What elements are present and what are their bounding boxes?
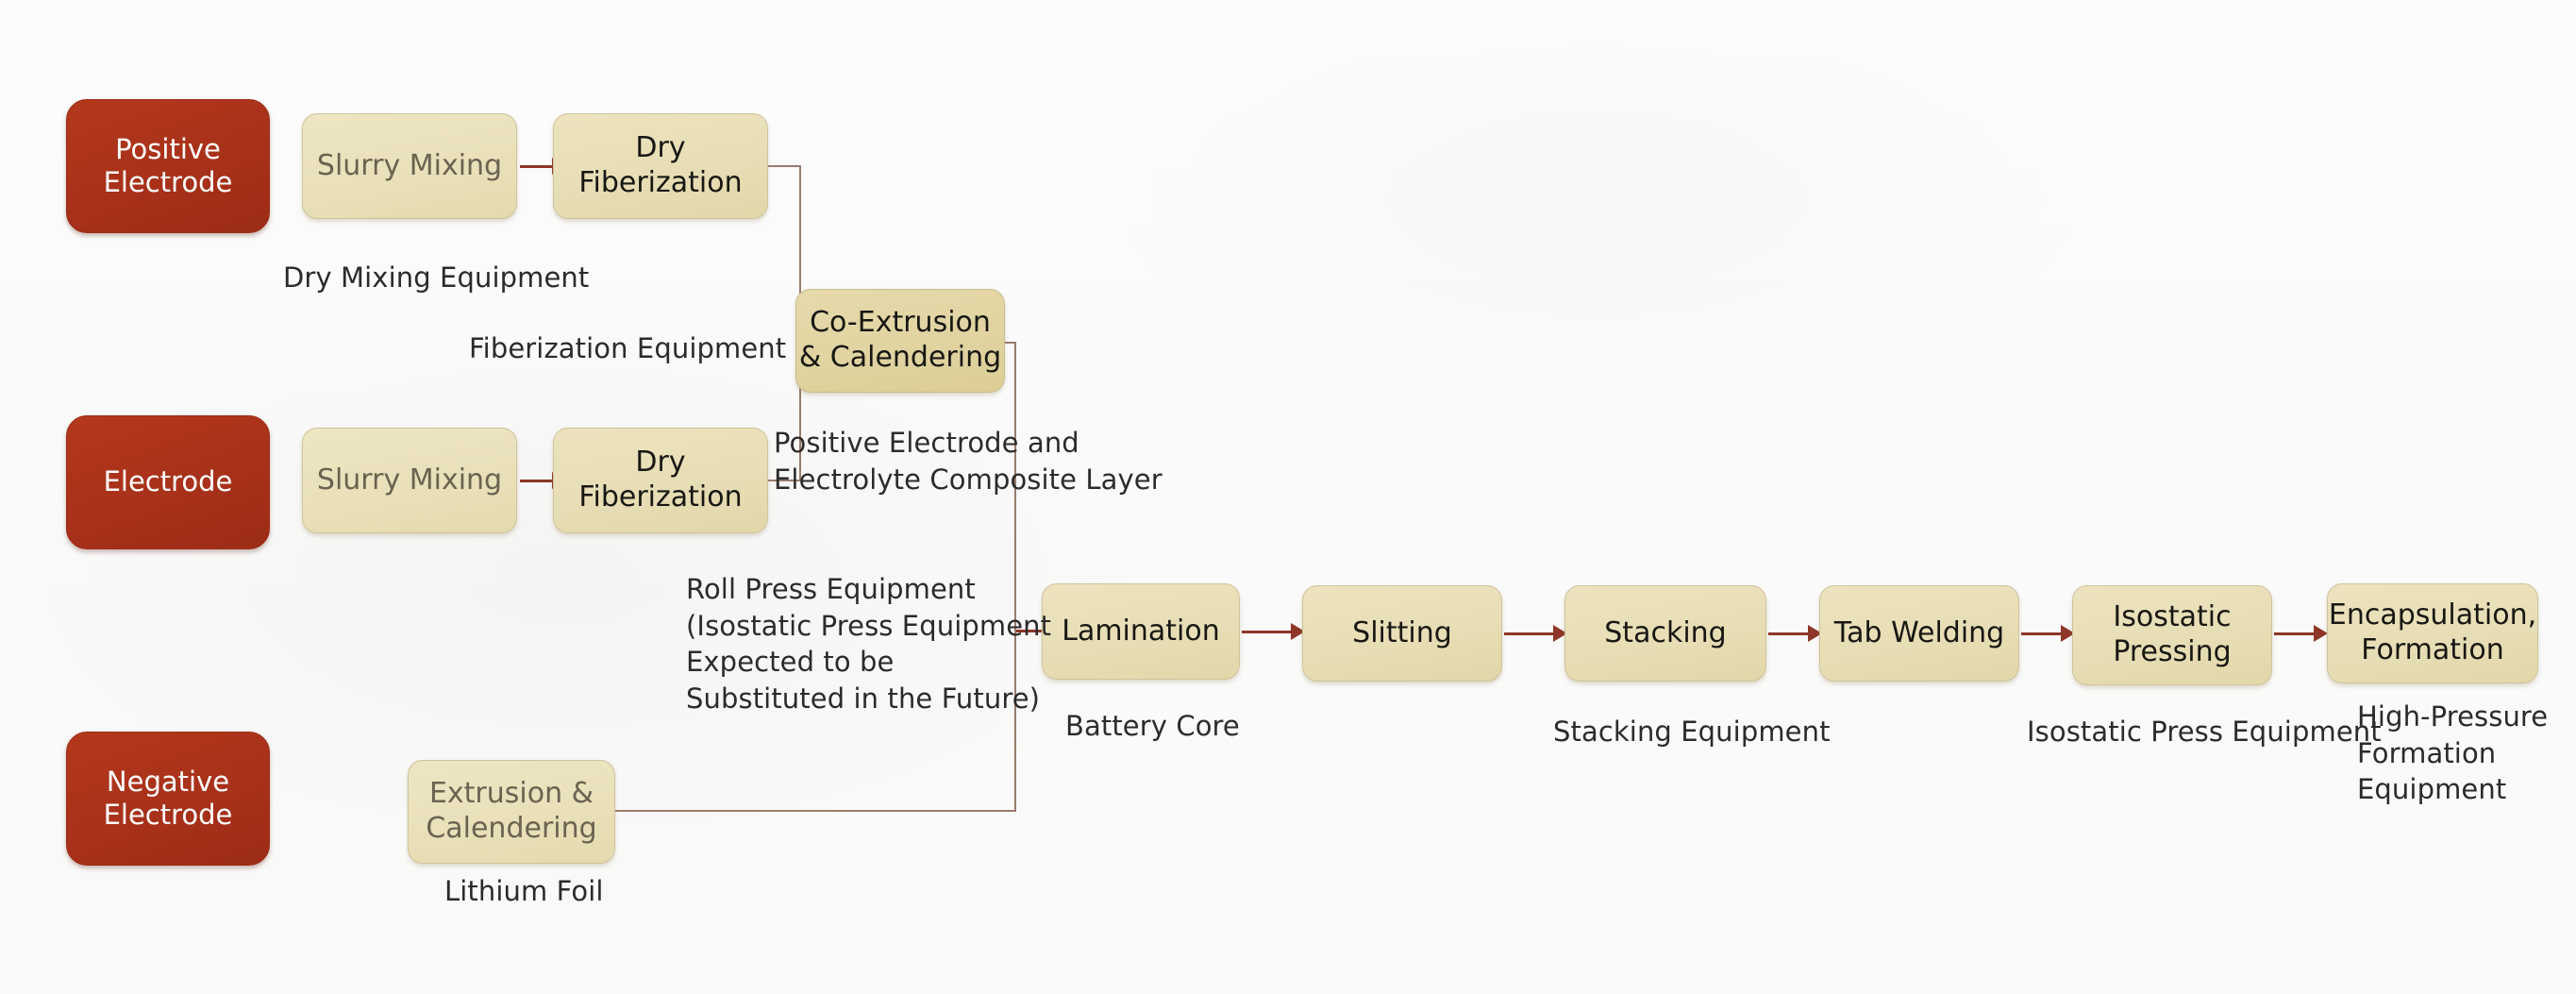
caption-dry-mixing-equipment: Dry Mixing Equipment (283, 260, 589, 296)
arrow-isostatic-to-encapsulation (2274, 632, 2316, 635)
flowchart-canvas: Positive Electrode Electrode Negative El… (0, 0, 2576, 994)
caption-positive-electrode-composite: Positive Electrode and Electrolyte Compo… (774, 425, 1163, 497)
node-negative-electrode[interactable]: Negative Electrode (66, 732, 270, 866)
node-electrode[interactable]: Electrode (66, 415, 270, 549)
arrow-slurry-to-fiberization-top (520, 165, 554, 168)
node-dry-fiberization-top-label: Dry Fiberization (554, 131, 767, 200)
connector-extrusion-out (615, 810, 1016, 812)
arrow-stacking-to-tab-welding (1768, 632, 1810, 635)
node-slitting[interactable]: Slitting (1302, 585, 1502, 682)
caption-roll-press-equipment: Roll Press Equipment (Isostatic Press Eq… (686, 571, 1051, 716)
caption-fiberization-equipment: Fiberization Equipment (469, 330, 786, 367)
node-lamination[interactable]: Lamination (1042, 583, 1240, 680)
arrow-slitting-to-stacking (1504, 632, 1555, 635)
node-encapsulation-formation-label: Encapsulation, Formation (2329, 598, 2536, 667)
node-slitting-label: Slitting (1352, 616, 1452, 651)
node-positive-electrode-label: Positive Electrode (104, 133, 233, 200)
arrow-lamination-to-slitting (1242, 631, 1293, 633)
node-tab-welding[interactable]: Tab Welding (1819, 585, 2019, 682)
node-encapsulation-formation[interactable]: Encapsulation, Formation (2327, 583, 2538, 683)
node-co-extrusion-calendering[interactable]: Co-Extrusion & Calendering (795, 289, 1005, 393)
caption-isostatic-press-equipment: Isostatic Press Equipment (2027, 714, 2382, 750)
node-extrusion-calendering[interactable]: Extrusion & Calendering (408, 760, 615, 864)
node-tab-welding-label: Tab Welding (1834, 616, 2004, 651)
node-dry-fiberization-mid[interactable]: Dry Fiberization (553, 428, 768, 533)
node-dry-fiberization-top[interactable]: Dry Fiberization (553, 113, 768, 219)
node-isostatic-pressing[interactable]: Isostatic Pressing (2072, 585, 2272, 685)
node-slurry-mixing-top-label: Slurry Mixing (317, 149, 502, 184)
connector-fiberization-top-out (768, 165, 801, 167)
arrow-slurry-to-fiberization-mid (520, 480, 554, 482)
node-stacking-label: Stacking (1604, 616, 1726, 651)
node-negative-electrode-label: Negative Electrode (104, 766, 233, 833)
node-slurry-mixing-mid[interactable]: Slurry Mixing (302, 428, 517, 533)
caption-lithium-foil: Lithium Foil (444, 873, 604, 910)
node-slurry-mixing-top[interactable]: Slurry Mixing (302, 113, 517, 219)
arrow-tab-welding-to-isostatic (2021, 632, 2063, 635)
node-electrode-label: Electrode (104, 465, 233, 498)
caption-battery-core: Battery Core (1065, 708, 1240, 745)
node-dry-fiberization-mid-label: Dry Fiberization (554, 446, 767, 514)
node-extrusion-calendering-label: Extrusion & Calendering (426, 777, 596, 846)
arrow-head-isostatic-to-encapsulation (2314, 625, 2328, 642)
node-slurry-mixing-mid-label: Slurry Mixing (317, 463, 502, 498)
node-positive-electrode[interactable]: Positive Electrode (66, 99, 270, 233)
node-co-extrusion-calendering-label: Co-Extrusion & Calendering (799, 306, 1001, 375)
node-isostatic-pressing-label: Isostatic Pressing (2113, 600, 2231, 669)
caption-stacking-equipment: Stacking Equipment (1553, 714, 1831, 750)
node-lamination-label: Lamination (1062, 615, 1220, 649)
caption-high-pressure-formation-equipment: High-Pressure Formation Equipment (2357, 699, 2548, 808)
node-stacking[interactable]: Stacking (1564, 585, 1766, 682)
